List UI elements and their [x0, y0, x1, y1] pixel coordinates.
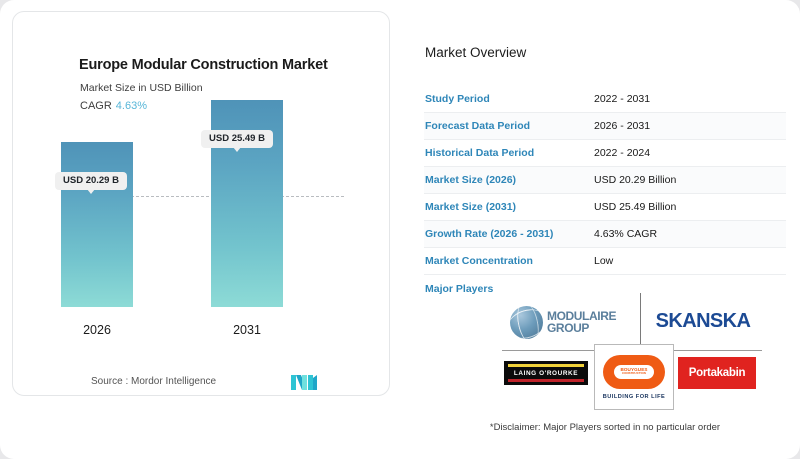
table-row: Forecast Data Period 2026 - 2031	[424, 113, 786, 140]
row-value: 4.63% CAGR	[594, 228, 657, 240]
logo-bouygues-construction: BOUYGUES CONSTRUCTION BUILDING FOR LIFE	[594, 344, 674, 410]
bouygues-line-2: CONSTRUCTION	[622, 372, 646, 375]
mordor-intelligence-logo	[291, 374, 317, 391]
row-value: 2022 - 2031	[594, 93, 650, 105]
cagr-value: 4.63%	[116, 100, 147, 112]
globe-icon	[510, 306, 543, 339]
row-label: Study Period	[424, 93, 594, 105]
row-label: Growth Rate (2026 - 2031)	[424, 228, 594, 240]
row-value: USD 20.29 Billion	[594, 174, 676, 186]
table-row: Historical Data Period 2022 - 2024	[424, 140, 786, 167]
row-label: Market Size (2026)	[424, 174, 594, 186]
bouygues-tagline: BUILDING FOR LIFE	[603, 394, 666, 400]
bar-chart-plot: USD 20.29 B USD 25.49 B 2026 2031	[25, 122, 379, 362]
row-label: Forecast Data Period	[424, 120, 594, 132]
table-row: Growth Rate (2026 - 2031) 4.63% CAGR	[424, 221, 786, 248]
modulaire-wordmark: MODULAIRE GROUP	[547, 310, 616, 334]
chart-card: Europe Modular Construction Market Marke…	[12, 11, 390, 396]
logo-portakabin: Portakabin	[678, 355, 758, 391]
table-row: Market Size (2031) USD 25.49 Billion	[424, 194, 786, 221]
source-text: Source : Mordor Intelligence	[91, 376, 216, 387]
logo-modulaire-group: MODULAIRE GROUP	[510, 301, 632, 343]
skanska-wordmark: SKANSKA	[656, 310, 751, 333]
market-summary-infographic: Europe Modular Construction Market Marke…	[0, 0, 800, 459]
row-value: Low	[594, 255, 613, 267]
bar-label-2026: USD 20.29 B	[55, 172, 127, 190]
table-row: Study Period 2022 - 2031	[424, 86, 786, 113]
table-row: Market Size (2026) USD 20.29 Billion	[424, 167, 786, 194]
logo-laing-orourke: LAING O'ROURKE	[504, 357, 590, 389]
laing-wordmark: LAING O'ROURKE	[508, 367, 584, 379]
bar-label-2031: USD 25.49 B	[201, 130, 273, 148]
market-overview-table: Study Period 2022 - 2031 Forecast Data P…	[424, 86, 786, 275]
bar-2026	[61, 142, 133, 307]
laing-box: LAING O'ROURKE	[504, 361, 588, 385]
laing-red-rule	[508, 379, 584, 382]
logo-grid-vertical-divider	[640, 293, 641, 350]
chart-title: Europe Modular Construction Market	[79, 57, 328, 73]
x-axis-tick-2026: 2026	[61, 323, 133, 337]
portakabin-box: Portakabin	[678, 357, 756, 389]
market-overview-panel: Market Overview Study Period 2022 - 2031…	[424, 0, 786, 459]
row-value: 2026 - 2031	[594, 120, 650, 132]
panel-title: Market Overview	[425, 45, 526, 60]
cagr-line: CAGR4.63%	[80, 100, 147, 112]
row-value: USD 25.49 Billion	[594, 201, 676, 213]
major-players-logo-grid: MODULAIRE GROUP SKANSKA LAING O'ROURKE B…	[502, 293, 762, 408]
bouygues-inner-pill: BOUYGUES CONSTRUCTION	[614, 365, 654, 379]
modulaire-line-2: GROUP	[547, 322, 616, 334]
cagr-label: CAGR	[80, 100, 112, 112]
chart-subtitle: Market Size in USD Billion	[80, 82, 203, 94]
row-label: Market Concentration	[424, 255, 594, 267]
disclaimer-text: *Disclaimer: Major Players sorted in no …	[424, 422, 786, 433]
row-label: Historical Data Period	[424, 147, 594, 159]
logo-skanska: SKANSKA	[648, 303, 758, 339]
bouygues-pill: BOUYGUES CONSTRUCTION	[603, 355, 665, 389]
row-value: 2022 - 2024	[594, 147, 650, 159]
table-row: Market Concentration Low	[424, 248, 786, 275]
row-label: Market Size (2031)	[424, 201, 594, 213]
major-players-label: Major Players	[425, 283, 493, 295]
x-axis-tick-2031: 2031	[211, 323, 283, 337]
portakabin-wordmark: Portakabin	[689, 367, 745, 379]
